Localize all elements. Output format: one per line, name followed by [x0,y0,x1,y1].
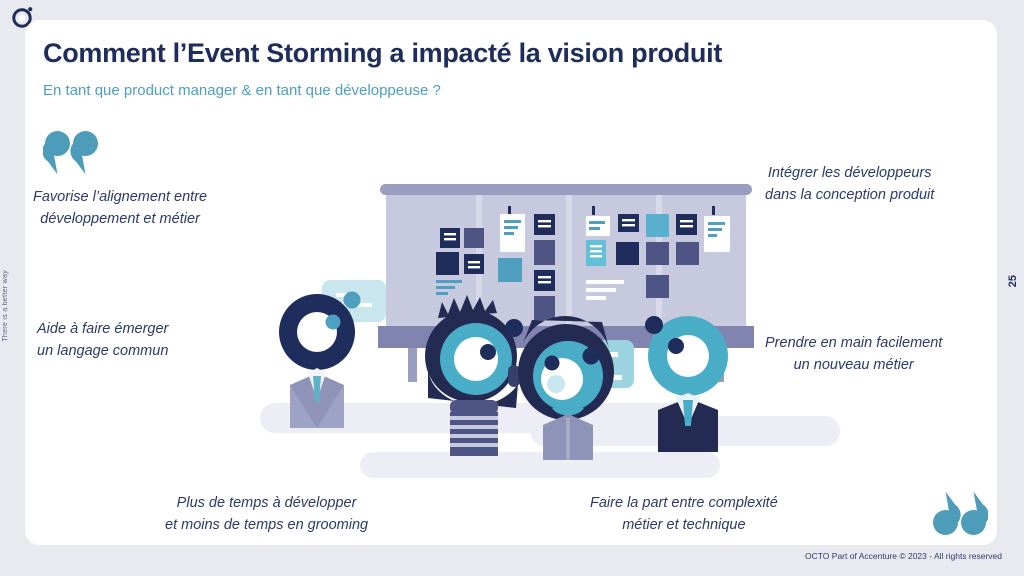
side-tagline: There is a better way [2,270,9,342]
note-top-right: Intégrer les développeurs dans la concep… [765,162,934,207]
slide-card: Comment l’Event Storming a impacté la vi… [25,20,997,545]
note-line: un nouveau métier [765,354,942,376]
quote-open-icon [43,130,101,176]
quote-close-icon [930,490,988,536]
page-subtitle: En tant que product manager & en tant qu… [43,82,441,99]
note-line: Plus de temps à développer [165,492,368,514]
board-top-rail [380,184,752,195]
note-line: dans la conception produit [765,184,934,206]
slide-root: There is a better way 25 Comment l’Event… [0,0,1024,576]
ground-bar-front [360,452,720,478]
note-line: Aide à faire émerger [37,318,168,340]
note-line: Faire la part entre complexité [590,492,778,514]
page-number: 25 [1007,275,1019,287]
note-line: un langage commun [37,340,168,362]
note-line: Prendre en main facilement [765,332,942,354]
page-title: Comment l’Event Storming a impacté la vi… [43,38,722,69]
footer-copyright: OCTO Part of Accenture © 2023 - All righ… [805,551,1002,561]
note-top-left: Favorise l’alignement entre développemen… [33,186,207,231]
note-line: métier et technique [590,514,778,536]
note-bottom-right: Faire la part entre complexité métier et… [590,492,778,537]
note-mid-left: Aide à faire émerger un langage commun [37,318,168,363]
note-bottom-left: Plus de temps à développer et moins de t… [165,492,368,537]
note-line: Intégrer les développeurs [765,162,934,184]
note-line: Favorise l’alignement entre [33,186,207,208]
note-line: développement et métier [33,208,207,230]
event-storming-workshop-illustration [260,160,840,490]
note-line: et moins de temps en grooming [165,514,368,536]
note-mid-right: Prendre en main facilement un nouveau mé… [765,332,942,377]
